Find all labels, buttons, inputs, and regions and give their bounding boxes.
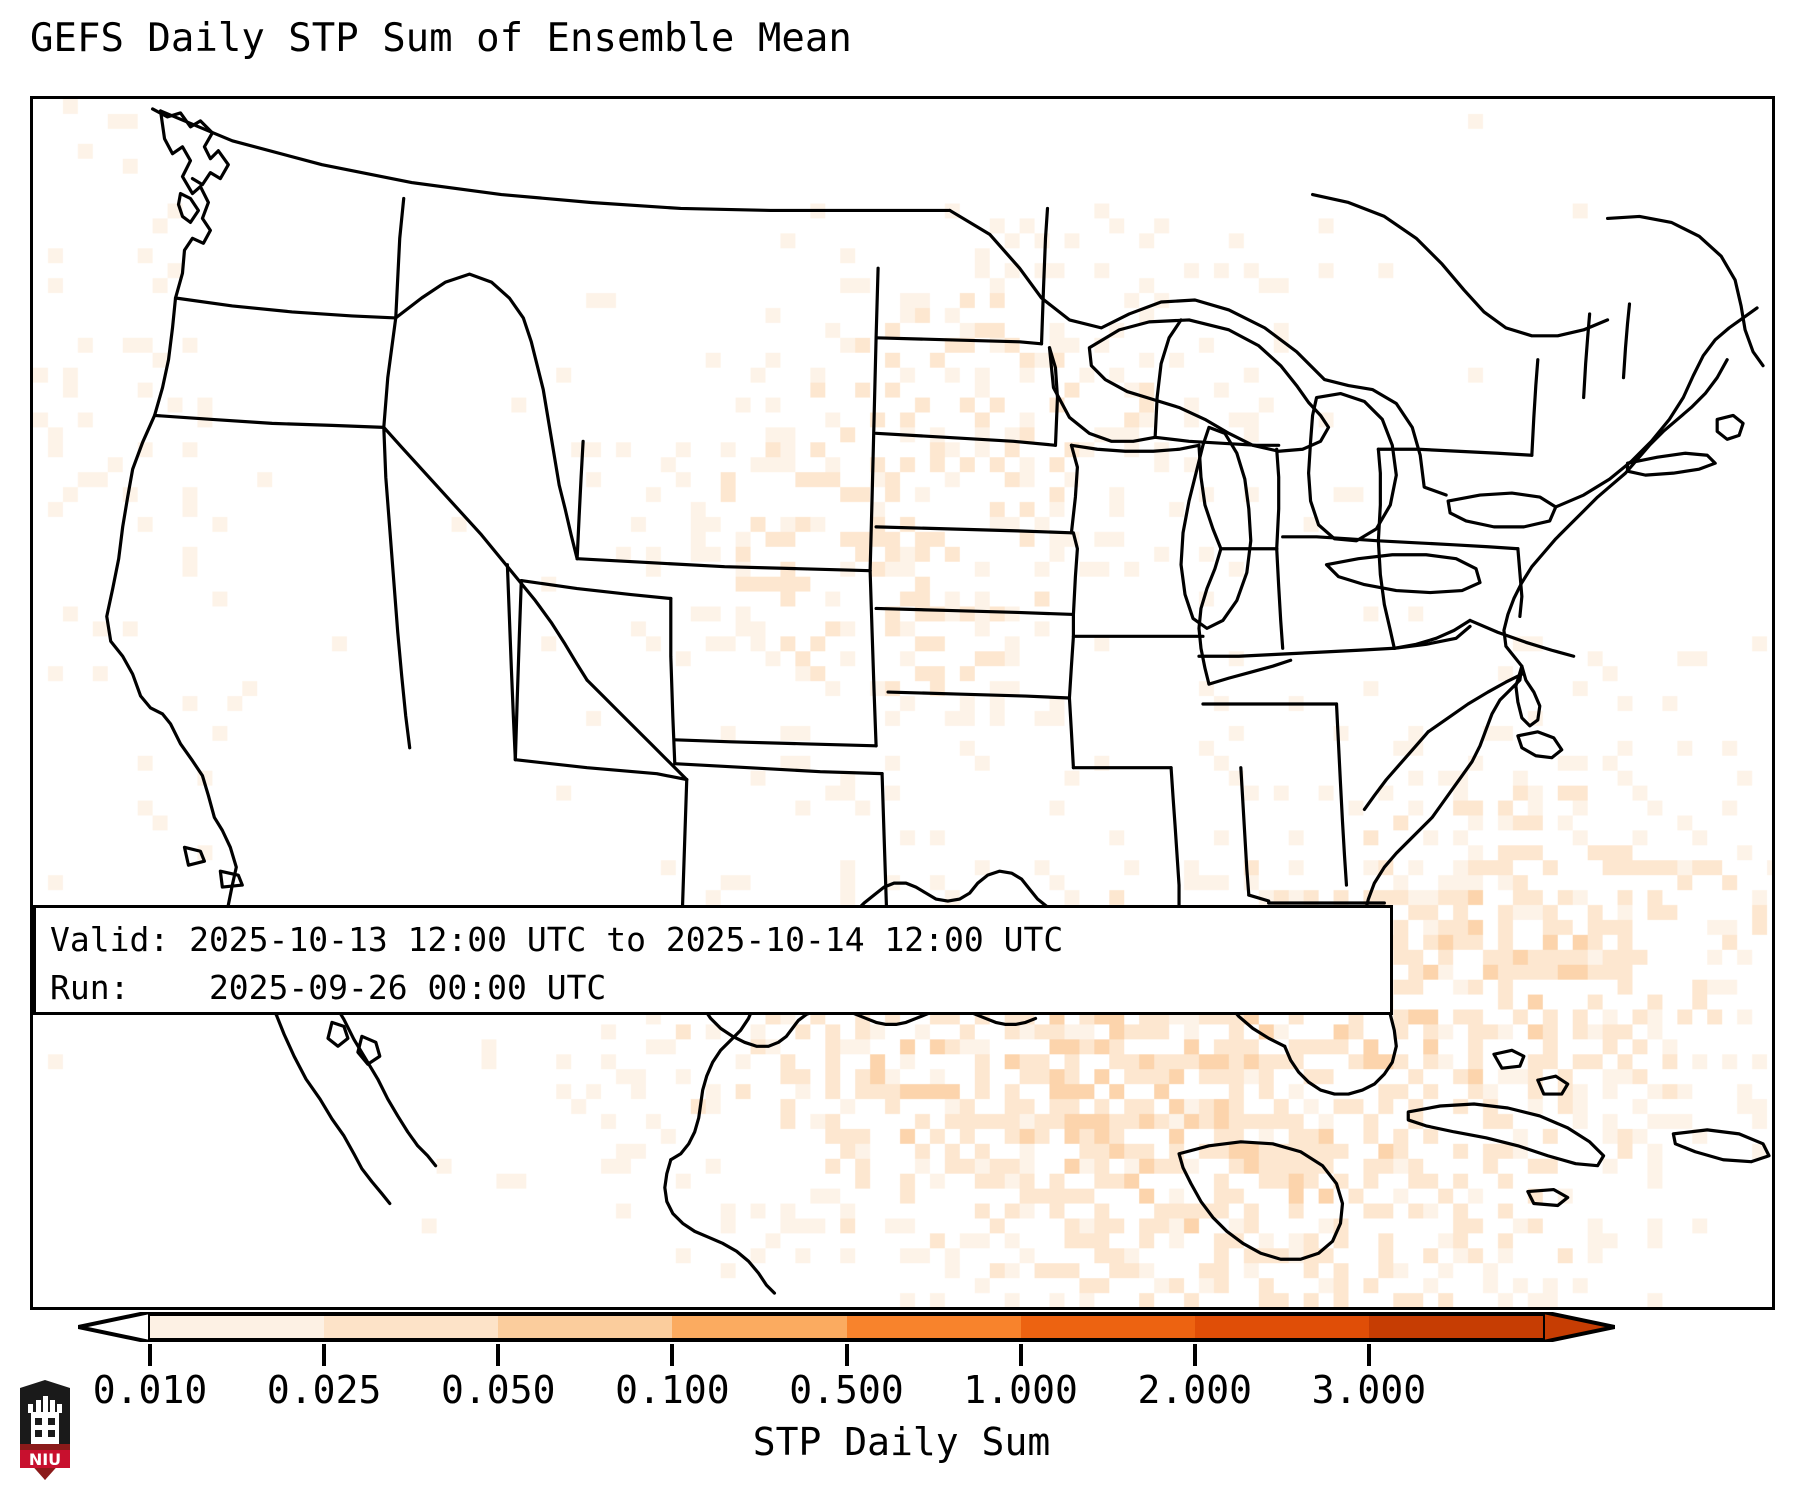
coastline-cape-cod	[1717, 415, 1743, 439]
colorbar-tick-label-3: 0.100	[615, 1368, 729, 1412]
coastline-yucatan	[1179, 1142, 1342, 1259]
state-or-id	[384, 318, 396, 427]
colorbar-segment-6	[1195, 1316, 1369, 1338]
state-wy-ne-sd	[870, 571, 876, 746]
island-bahamas-b	[1538, 1076, 1568, 1094]
colorbar-tick-label-6: 2.000	[1138, 1368, 1252, 1412]
colorbar-tick-5	[1019, 1344, 1023, 1366]
state-ky-tn	[1199, 648, 1394, 656]
colorbar-tick-label-4: 0.500	[789, 1368, 903, 1412]
island-bahamas-a	[1494, 1050, 1524, 1068]
state-in-oh	[1277, 549, 1283, 649]
colorbar-gradient	[150, 1312, 1543, 1342]
state-nd-mn	[1042, 208, 1048, 343]
state-ia-mo-il	[1071, 445, 1199, 451]
state-oh-pa	[1378, 449, 1380, 541]
state-ut-wy	[521, 581, 670, 599]
colorbar-segment-1	[324, 1316, 498, 1338]
coastline-outer-banks	[1518, 732, 1562, 758]
state-sc-ga	[1364, 732, 1428, 810]
state-ne-states-b	[1624, 304, 1630, 378]
colorbar-segment-7	[1369, 1316, 1543, 1338]
logo-name-text: NIU	[29, 1450, 61, 1469]
colorbar-extend-high-arrow	[1543, 1312, 1615, 1342]
lake-erie	[1327, 555, 1480, 593]
state-ga-al	[1337, 704, 1347, 885]
state-la-ms	[1171, 768, 1179, 907]
state-co-nm	[675, 764, 882, 774]
colorbar-tick-labels: 0.0100.0250.0500.1000.5001.0002.0003.000	[0, 1368, 1803, 1416]
state-ne-ks	[876, 527, 1071, 533]
state-wa-or	[176, 298, 396, 318]
colorbar-tick-0	[148, 1344, 152, 1366]
valid-run-annotation-box: Valid: 2025-10-13 12:00 UTC to 2025-10-1…	[33, 905, 1393, 1015]
state-ms-al	[1241, 768, 1249, 895]
state-mo-il	[1199, 549, 1221, 684]
colorbar-tick-label-0: 0.010	[93, 1368, 207, 1412]
state-ia-il	[1199, 445, 1221, 548]
state-ks-ok	[876, 608, 1073, 614]
state-va-nc	[1470, 620, 1574, 656]
border-us-canada-west	[161, 111, 950, 211]
colorbar-segment-4	[847, 1316, 1021, 1338]
state-ks-mo	[1073, 533, 1077, 615]
state-nd-sd	[876, 338, 1041, 344]
state-wi-mi	[1155, 320, 1181, 437]
lake-ontario	[1448, 493, 1556, 527]
colorbar-tick-2	[496, 1344, 500, 1366]
state-mt-nd-sd	[870, 268, 878, 570]
border-stlawrence	[1556, 308, 1757, 507]
colorbar-tick-3	[670, 1344, 674, 1366]
island-baja-a	[328, 1022, 348, 1046]
colorbar-extend-low-arrow	[78, 1312, 150, 1342]
valid-time-text: Valid: 2025-10-13 12:00 UTC to 2025-10-1…	[50, 916, 1376, 964]
colorbar-segment-3	[672, 1316, 846, 1338]
state-ne-states-a	[1584, 314, 1590, 398]
state-ne-ia-mo	[1071, 445, 1077, 533]
colorbar-segment-2	[498, 1316, 672, 1338]
colorbar-tick-7	[1367, 1344, 1371, 1366]
state-az-ut-nm	[515, 760, 686, 780]
state-id-mt	[396, 274, 577, 559]
page-title: GEFS Daily STP Sum of Ensemble Mean	[30, 16, 852, 61]
state-il-ky-in	[1209, 660, 1291, 684]
lake-michigan	[1181, 427, 1251, 628]
state-pa-md-wv	[1378, 541, 1518, 549]
state-wi-il	[1155, 437, 1279, 445]
state-co-ks-ne	[675, 740, 876, 746]
island-hispaniola	[1673, 1130, 1769, 1162]
island-channel-b	[220, 871, 242, 887]
map-frame	[30, 96, 1775, 1310]
state-ok-ar	[1069, 614, 1073, 698]
colorbar-ticks	[0, 1344, 1803, 1366]
state-sd-ne	[876, 433, 1055, 445]
island-cuba	[1408, 1104, 1603, 1166]
coastline-mexico-east	[665, 1160, 775, 1293]
colorbar-tick-label-7: 3.000	[1312, 1368, 1426, 1412]
state-md-va	[1518, 549, 1522, 617]
coastline-olympic	[178, 194, 198, 223]
niu-logo: NIU	[14, 1378, 76, 1482]
state-nc-sc	[1428, 674, 1522, 732]
state-ar-tx-la	[1069, 698, 1073, 768]
colorbar-tick-label-5: 1.000	[963, 1368, 1077, 1412]
colorbar-tick-1	[322, 1344, 326, 1366]
coastline-puget-sound	[153, 109, 229, 185]
colorbar: 0.0100.0250.0500.1000.5001.0002.0003.000…	[0, 1300, 1803, 1500]
colorbar-tick-6	[1193, 1344, 1197, 1366]
run-time-text: Run: 2025-09-26 00:00 UTC	[50, 964, 1376, 1012]
state-id-wy	[577, 441, 583, 558]
colorbar-segment-0	[150, 1316, 324, 1338]
state-ok-tx	[888, 692, 1069, 698]
colorbar-tick-label-2: 0.050	[441, 1368, 555, 1412]
colorbar-tick-4	[845, 1344, 849, 1366]
state-in-il-north	[1277, 449, 1279, 549]
colorbar-segment-5	[1021, 1316, 1195, 1338]
island-channel-a	[184, 847, 204, 865]
state-ny-vt-nh	[1532, 360, 1538, 456]
state-pa-ny	[1378, 449, 1531, 455]
state-id-nv-ut	[384, 427, 410, 747]
state-ut-co	[515, 581, 521, 760]
state-or-ca	[155, 415, 384, 427]
state-wa-id	[396, 199, 404, 318]
state-nv-ut	[507, 565, 515, 760]
colorbar-tick-label-1: 0.025	[267, 1368, 381, 1412]
coastline-pacific	[107, 111, 276, 1015]
canada-quebec-coast	[1313, 195, 1608, 336]
colorbar-axis-title: STP Daily Sum	[0, 1420, 1803, 1464]
canada-maritime	[1608, 216, 1763, 365]
state-fl-al	[1249, 895, 1269, 903]
island-jamaica	[1528, 1190, 1568, 1206]
state-mt-wy	[577, 559, 870, 571]
geography-layer	[33, 99, 1772, 1307]
